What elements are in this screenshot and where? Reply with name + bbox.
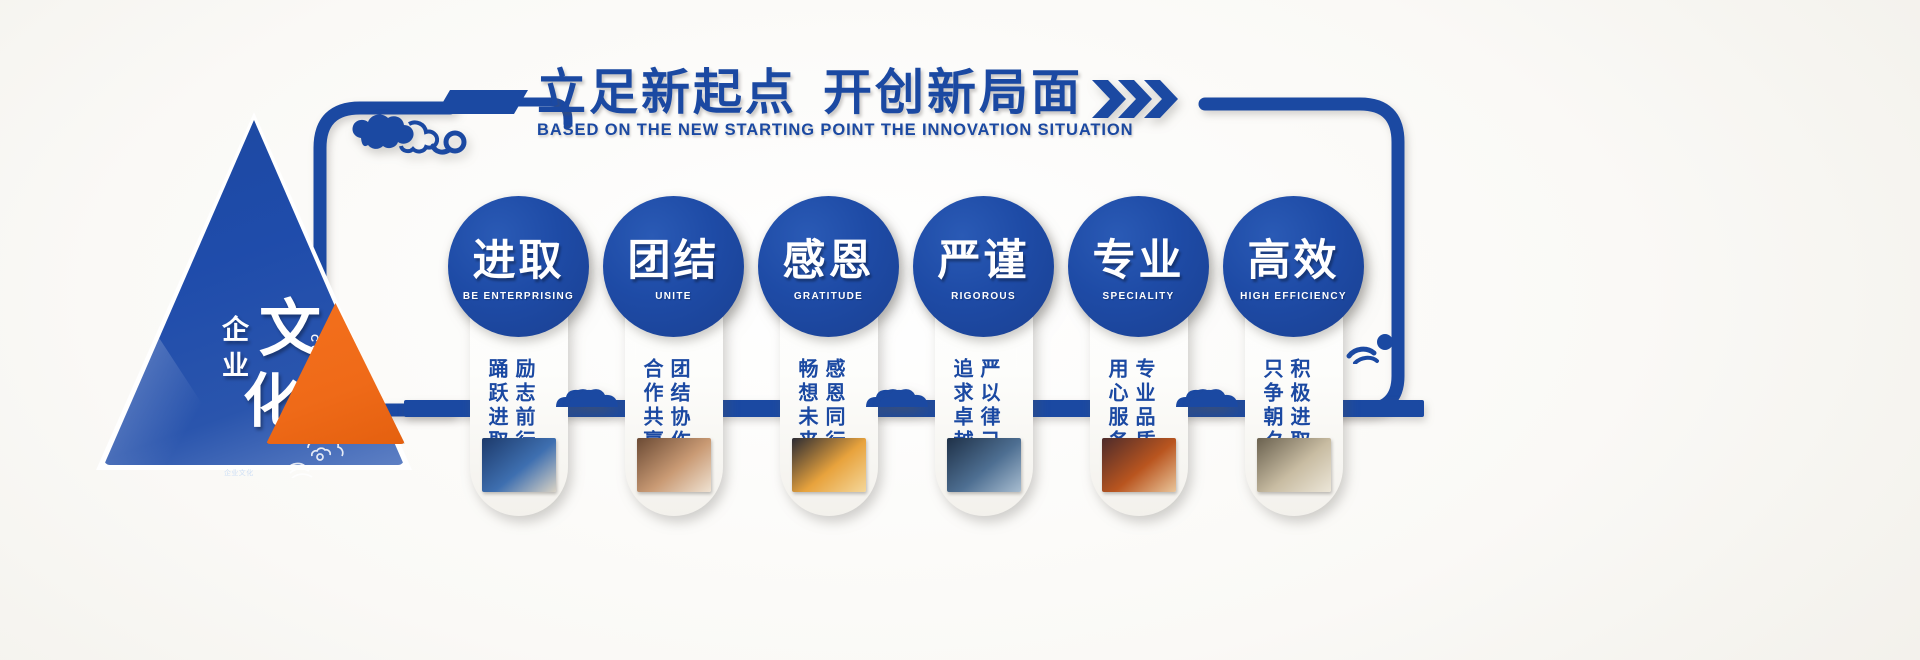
photo-eagle (947, 438, 1021, 492)
page-title: 立足新起点开创新局面 (537, 66, 1137, 120)
pill-title-en: BE ENTERPRISING (463, 291, 574, 302)
pill-circle-5[interactable]: 专业 SPECIALITY (1068, 196, 1209, 337)
logo-corner-badge: 企业文化 (224, 468, 254, 478)
pill-title-en: SPECIALITY (1103, 291, 1175, 302)
pill-title-cn: 专业 (1093, 238, 1185, 284)
pill-title-cn: 感恩 (783, 238, 875, 284)
pill-title-en: GRATITUDE (794, 291, 863, 302)
culture-pill-3[interactable]: 感恩 GRATITUDE 感恩同行 畅想未来 (780, 198, 878, 516)
cloud-ornament-left-icon (345, 108, 475, 168)
logo-char-qi: 企 (222, 308, 249, 347)
pill-title-en: RIGOROUS (951, 291, 1016, 302)
pill-circle-2[interactable]: 团结 UNITE (603, 196, 744, 337)
photo-pen-blueprint (482, 438, 556, 492)
photo-sunrise-figure (792, 438, 866, 492)
culture-pill-2[interactable]: 团结 UNITE 团结协作 合作共赢 (625, 198, 723, 516)
photo-handshake (637, 438, 711, 492)
pill-title-en: UNITE (655, 291, 692, 302)
pill-title-cn: 团结 (628, 238, 720, 284)
pill-title-cn: 高效 (1248, 238, 1340, 284)
pill-title-en: HIGH EFFICIENCY (1240, 291, 1347, 302)
pill-circle-4[interactable]: 严谨 RIGOROUS (913, 196, 1054, 337)
culture-pill-5[interactable]: 专业 SPECIALITY 专业品质 用心服务 (1090, 198, 1188, 516)
culture-pill-1[interactable]: 进取 BE ENTERPRISING 励志前行 踊跃进取 (470, 198, 568, 516)
culture-pill-6[interactable]: 高效 HIGH EFFICIENCY 积极进取 只争朝夕 (1245, 198, 1343, 516)
pill-cloud-icon-6 (1181, 386, 1253, 408)
photo-runner-track (1102, 438, 1176, 492)
photo-stopwatch (1257, 438, 1331, 492)
page-subtitle: BASED ON THE NEW STARTING POINT THE INNO… (537, 121, 1137, 140)
title-cn-part1: 立足新起点 (537, 64, 797, 121)
culture-pill-4[interactable]: 严谨 RIGOROUS 严以律己 追求卓越 (935, 198, 1033, 516)
pill-circle-3[interactable]: 感恩 GRATITUDE (758, 196, 899, 337)
wall-header: 立足新起点开创新局面 BASED ON THE NEW STARTING POI… (537, 66, 1137, 140)
pill-cloud-icon-2 (561, 386, 633, 408)
pill-cloud-icon-4 (871, 386, 943, 408)
cloud-ornament-right-icon (1345, 330, 1405, 364)
chevron-right-icon (1092, 78, 1184, 120)
pill-title-cn: 进取 (473, 238, 565, 284)
culture-wall-scene: 企 业 文 化 COMPANY CULTURE 企业文化 (0, 0, 1920, 660)
pill-title-cn: 严谨 (938, 238, 1030, 284)
pill-circle-6[interactable]: 高效 HIGH EFFICIENCY (1223, 196, 1364, 337)
pill-circle-1[interactable]: 进取 BE ENTERPRISING (448, 196, 589, 337)
title-cn-part2: 开创新局面 (823, 64, 1083, 121)
